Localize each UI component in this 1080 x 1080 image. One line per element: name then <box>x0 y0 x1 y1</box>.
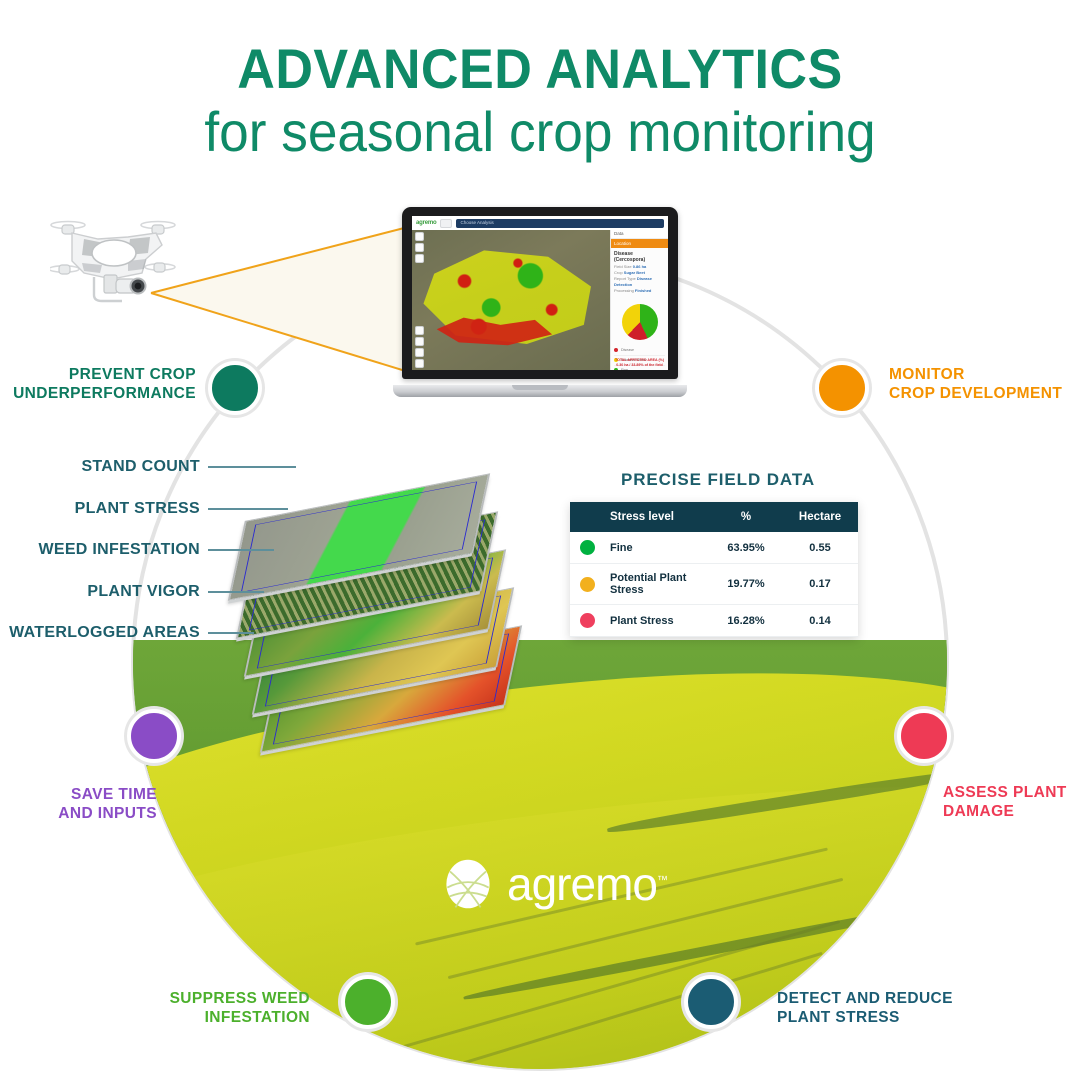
layer-label-plant-vigor: PLANT VIGOR <box>0 583 200 601</box>
panel-pie-chart <box>622 304 658 340</box>
node-dot[interactable] <box>208 361 262 415</box>
panel-detail-key: Crop <box>614 270 623 275</box>
node-save-time-and-inputs[interactable] <box>127 709 181 763</box>
node-dot[interactable] <box>815 361 869 415</box>
page-title: ADVANCED ANALYTICS for seasonal crop mon… <box>0 40 1080 164</box>
legend-label: Fine <box>621 368 628 370</box>
node-dot[interactable] <box>684 975 738 1029</box>
basemap-icon[interactable] <box>415 359 424 368</box>
panel-detail-key: Report Type <box>614 276 636 281</box>
app-map[interactable] <box>412 230 610 370</box>
app-data-panel: Data Location Disease (Cercospora) Field… <box>610 230 668 370</box>
column-percent: % <box>710 502 782 532</box>
node-label-suppress-weed-infestation: SUPPRESS WEED INFESTATION <box>120 989 310 1028</box>
table-header-row: Stress level % Hectare <box>570 502 858 532</box>
cell-stress-level: Fine <box>604 532 710 564</box>
cell-stress-level: Potential Plant Stress <box>604 564 710 605</box>
title-line-2: for seasonal crop monitoring <box>27 101 1053 164</box>
cell-percent: 63.95% <box>710 532 782 564</box>
node-label-monitor-crop-development: MONITOR CROP DEVELOPMENT <box>889 365 1080 404</box>
table-row: Plant Stress 16.28% 0.14 <box>570 605 858 637</box>
panel-detail-row: Report Type Disease Detection <box>611 276 668 288</box>
panel-detail-key: Processing <box>614 288 634 293</box>
analysis-layer-stack <box>232 437 532 667</box>
measure-icon[interactable] <box>415 326 424 335</box>
app-select-value: Choose Analysis <box>460 220 493 225</box>
brand-name: agremo <box>507 858 657 910</box>
field-data-heading: PRECISE FIELD DATA <box>568 470 868 490</box>
panel-location-bar[interactable]: Location <box>611 239 668 248</box>
app-top-bar: agremo Choose Analysis <box>412 216 668 230</box>
panel-analysis-title: Disease (Cercospora) <box>611 248 668 264</box>
leader-line <box>208 591 264 593</box>
swatch-cell <box>570 605 604 637</box>
layer-label-plant-stress: PLANT STRESS <box>0 500 200 518</box>
node-prevent-crop-underperformance[interactable] <box>208 361 262 415</box>
cell-hectare: 0.17 <box>782 564 858 605</box>
status-dot-fine <box>580 540 595 555</box>
ruler-icon[interactable] <box>415 243 424 252</box>
drone-icon <box>50 205 178 310</box>
cell-hectare: 0.14 <box>782 605 858 637</box>
swatch-cell <box>570 532 604 564</box>
cell-stress-level: Plant Stress <box>604 605 710 637</box>
agremo-wordmark: agremo™ <box>507 861 668 907</box>
status-dot-plant-stress <box>580 613 595 628</box>
header-spacer <box>570 502 604 532</box>
app-screen: agremo Choose Analysis <box>412 216 668 370</box>
panel-legend-row: Disease <box>614 346 665 356</box>
legend-dot <box>614 348 618 352</box>
leader-line <box>208 466 296 468</box>
layer-label-stand-count: STAND COUNT <box>0 458 200 476</box>
node-detect-and-reduce-plant-stress[interactable] <box>684 975 738 1029</box>
column-hectare: Hectare <box>782 502 858 532</box>
map-pin-icon[interactable] <box>415 232 424 241</box>
node-label-save-time-and-inputs: SAVE TIME AND INPUTS <box>0 785 157 824</box>
layer-label-weed-infestation: WEED INFESTATION <box>0 541 200 559</box>
status-dot-potential-plant-stress <box>580 577 595 592</box>
leader-line <box>208 508 288 510</box>
laptop-lid: agremo Choose Analysis <box>402 207 678 379</box>
laptop-icon: agremo Choose Analysis <box>393 207 687 397</box>
legend-label: Disease <box>621 348 634 352</box>
panel-detail-value: Finished <box>635 288 651 293</box>
leader-line <box>208 632 254 634</box>
panel-detail-value: 0.86 ha <box>633 264 647 269</box>
layer-label-waterlogged-areas: WATERLOGGED AREAS <box>0 624 200 642</box>
node-dot[interactable] <box>341 975 395 1029</box>
cell-percent: 16.28% <box>710 605 782 637</box>
map-toolbar-top[interactable] <box>415 232 424 263</box>
swatch-cell <box>570 564 604 605</box>
column-stress-level: Stress level <box>604 502 710 532</box>
node-label-detect-and-reduce-plant-stress: DETECT AND REDUCE PLANT STRESS <box>777 989 997 1028</box>
table-row: Fine 63.95% 0.55 <box>570 532 858 564</box>
brand-trademark: ™ <box>657 875 668 887</box>
node-dot[interactable] <box>127 709 181 763</box>
node-label-assess-plant-damage: ASSESS PLANT DAMAGE <box>943 783 1080 822</box>
panel-detail-key: Field Size <box>614 264 632 269</box>
agremo-logo: agremo™ <box>441 857 668 911</box>
zoom-in-icon[interactable] <box>415 337 424 346</box>
node-label-prevent-crop-underperformance: PREVENT CROP UNDERPERFORMANCE <box>0 365 196 404</box>
laptop-base <box>393 385 687 397</box>
agremo-globe-icon <box>441 857 495 911</box>
panel-detail-value: Sugar Beet <box>624 270 645 275</box>
leader-line <box>208 549 274 551</box>
table-row: Potential Plant Stress 19.77% 0.17 <box>570 564 858 605</box>
node-assess-plant-damage[interactable] <box>897 709 951 763</box>
map-toolbar-bottom[interactable] <box>415 326 424 368</box>
node-dot[interactable] <box>897 709 951 763</box>
layers-icon[interactable] <box>415 254 424 263</box>
zoom-out-icon[interactable] <box>415 348 424 357</box>
cell-percent: 19.77% <box>710 564 782 605</box>
legend-dot <box>614 368 618 370</box>
node-monitor-crop-development[interactable] <box>815 361 869 415</box>
cell-hectare: 0.55 <box>782 532 858 564</box>
panel-detail-row: Processing Finished <box>611 288 668 294</box>
app-logo: agremo <box>416 220 436 226</box>
title-line-1: ADVANCED ANALYTICS <box>38 40 1042 99</box>
panel-header: Data <box>611 230 668 239</box>
app-toolbar-button[interactable] <box>440 219 452 228</box>
app-analysis-select[interactable]: Choose Analysis <box>456 219 664 228</box>
field-data-table: Stress level % Hectare Fine 63.95% 0.55 … <box>570 502 858 637</box>
node-suppress-weed-infestation[interactable] <box>341 975 395 1029</box>
panel-footer-total: TOTAL AFFECTED AREA (%) 0.30 ha / 33.89%… <box>614 358 665 368</box>
